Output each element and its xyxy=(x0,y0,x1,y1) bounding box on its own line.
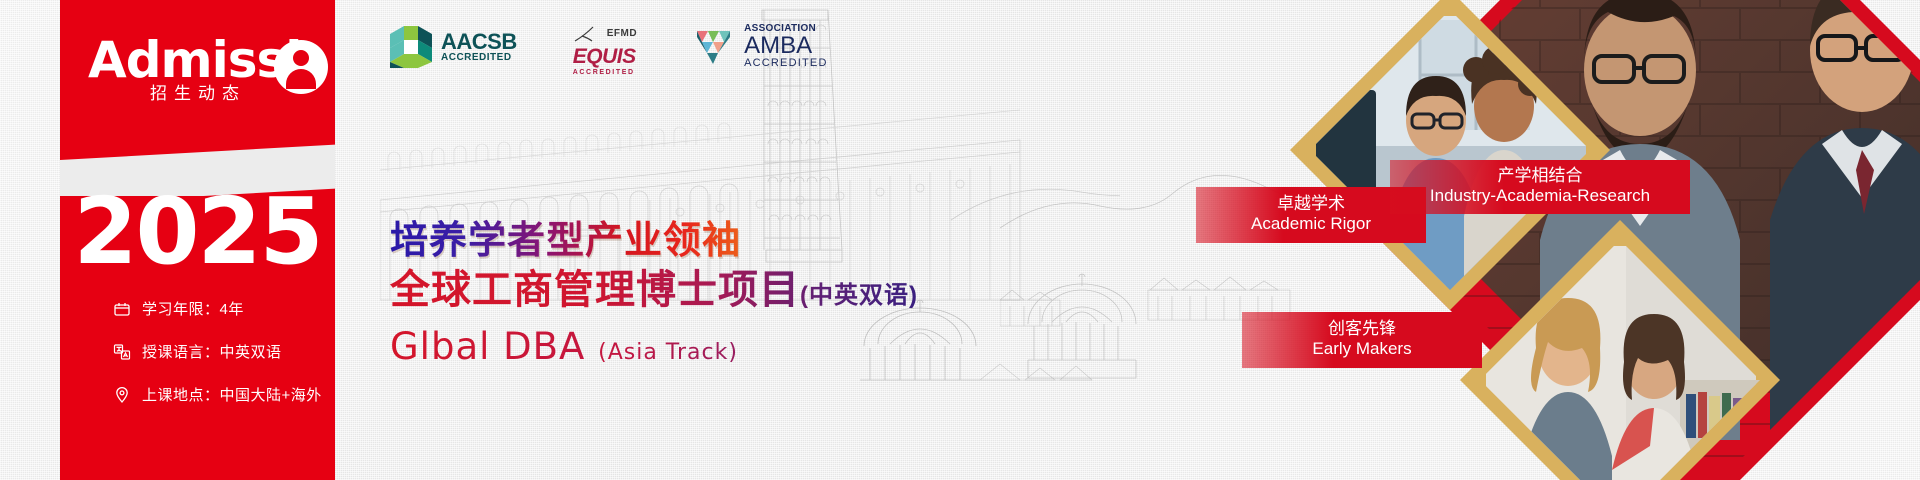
info-row-duration: 学习年限：4年 xyxy=(112,298,342,319)
academic-rigor-label-cn: 卓越学术 xyxy=(1222,194,1400,214)
industry-academia-label-en: Industry-Academia-Research xyxy=(1404,186,1676,206)
equis-status: ACCREDITED xyxy=(573,69,637,76)
program-title-cn-text: 全球工商管理博士项目 xyxy=(390,268,800,312)
info-text-language: 授课语言：中英双语 xyxy=(142,341,282,362)
industry-academia-label-cn: 产学相结合 xyxy=(1404,166,1676,186)
calendar-icon xyxy=(112,299,132,319)
efmd-name: EFMD xyxy=(607,29,637,39)
aacsb-name: AACSB xyxy=(441,31,517,53)
program-title-en: Glbal DBA (Asia Track) xyxy=(390,322,918,378)
program-title-en-paren: (Asia Track) xyxy=(598,340,738,365)
program-title-cn: 全球工商管理博士项目(中英双语) xyxy=(390,264,918,322)
headline-block: 培养学者型产业领袖 全球工商管理博士项目(中英双语) Glbal DBA (As… xyxy=(390,218,918,378)
aacsb-status: ACCREDITED xyxy=(441,53,517,63)
program-title-cn-paren: (中英双语) xyxy=(800,282,918,309)
admission-logo-chinese: 招生动态 xyxy=(150,79,246,104)
amba-diamond-icon xyxy=(693,25,737,69)
equis-logo: EFMD EQUIS ACCREDITED xyxy=(573,24,637,76)
photo-collage: 卓越学术 Academic Rigor 产学相结合 Industry-Acade… xyxy=(1020,0,1920,480)
amba-name: AMBA xyxy=(744,34,828,58)
program-title-en-text: Glbal DBA xyxy=(390,325,585,368)
program-info-list: 学习年限：4年 授课语言：中英双语 上课地点：中国大陆+海外 xyxy=(112,298,342,427)
info-text-location: 上课地点：中国大陆+海外 xyxy=(142,384,322,405)
aacsb-logo: AACSB ACCREDITED xyxy=(388,24,517,70)
equis-name: EQUIS xyxy=(573,46,637,67)
industry-academia-research-card[interactable]: 产学相结合 Industry-Academia-Research xyxy=(1390,160,1690,214)
admission-banner: Admissi 招生动态 2025 学习年限：4年 xyxy=(0,0,1920,480)
aacsb-mark-icon xyxy=(388,24,434,70)
location-pin-icon xyxy=(112,385,132,405)
language-icon xyxy=(112,342,132,362)
tagline: 培养学者型产业领袖 xyxy=(390,218,918,264)
academic-rigor-label-en: Academic Rigor xyxy=(1222,214,1400,234)
early-makers-card[interactable]: 创客先锋 Early Makers xyxy=(1242,312,1482,368)
info-text-duration: 学习年限：4年 xyxy=(142,298,244,319)
info-row-language: 授课语言：中英双语 xyxy=(112,341,342,362)
amba-status: ACCREDITED xyxy=(744,58,828,69)
year-label: 2025 xyxy=(60,178,335,285)
admission-logo: Admissi 招生动态 xyxy=(88,34,348,114)
person-avatar-icon xyxy=(274,40,328,94)
early-makers-label-cn: 创客先锋 xyxy=(1268,319,1456,339)
efmd-swoosh-icon xyxy=(573,24,603,44)
early-makers-label-en: Early Makers xyxy=(1268,339,1456,359)
accreditation-logo-row: AACSB ACCREDITED EFMD EQUIS ACCREDITED xyxy=(388,24,828,76)
amba-logo: ASSOCIATION AMBA ACCREDITED xyxy=(693,24,828,69)
info-row-location: 上课地点：中国大陆+海外 xyxy=(112,384,342,405)
